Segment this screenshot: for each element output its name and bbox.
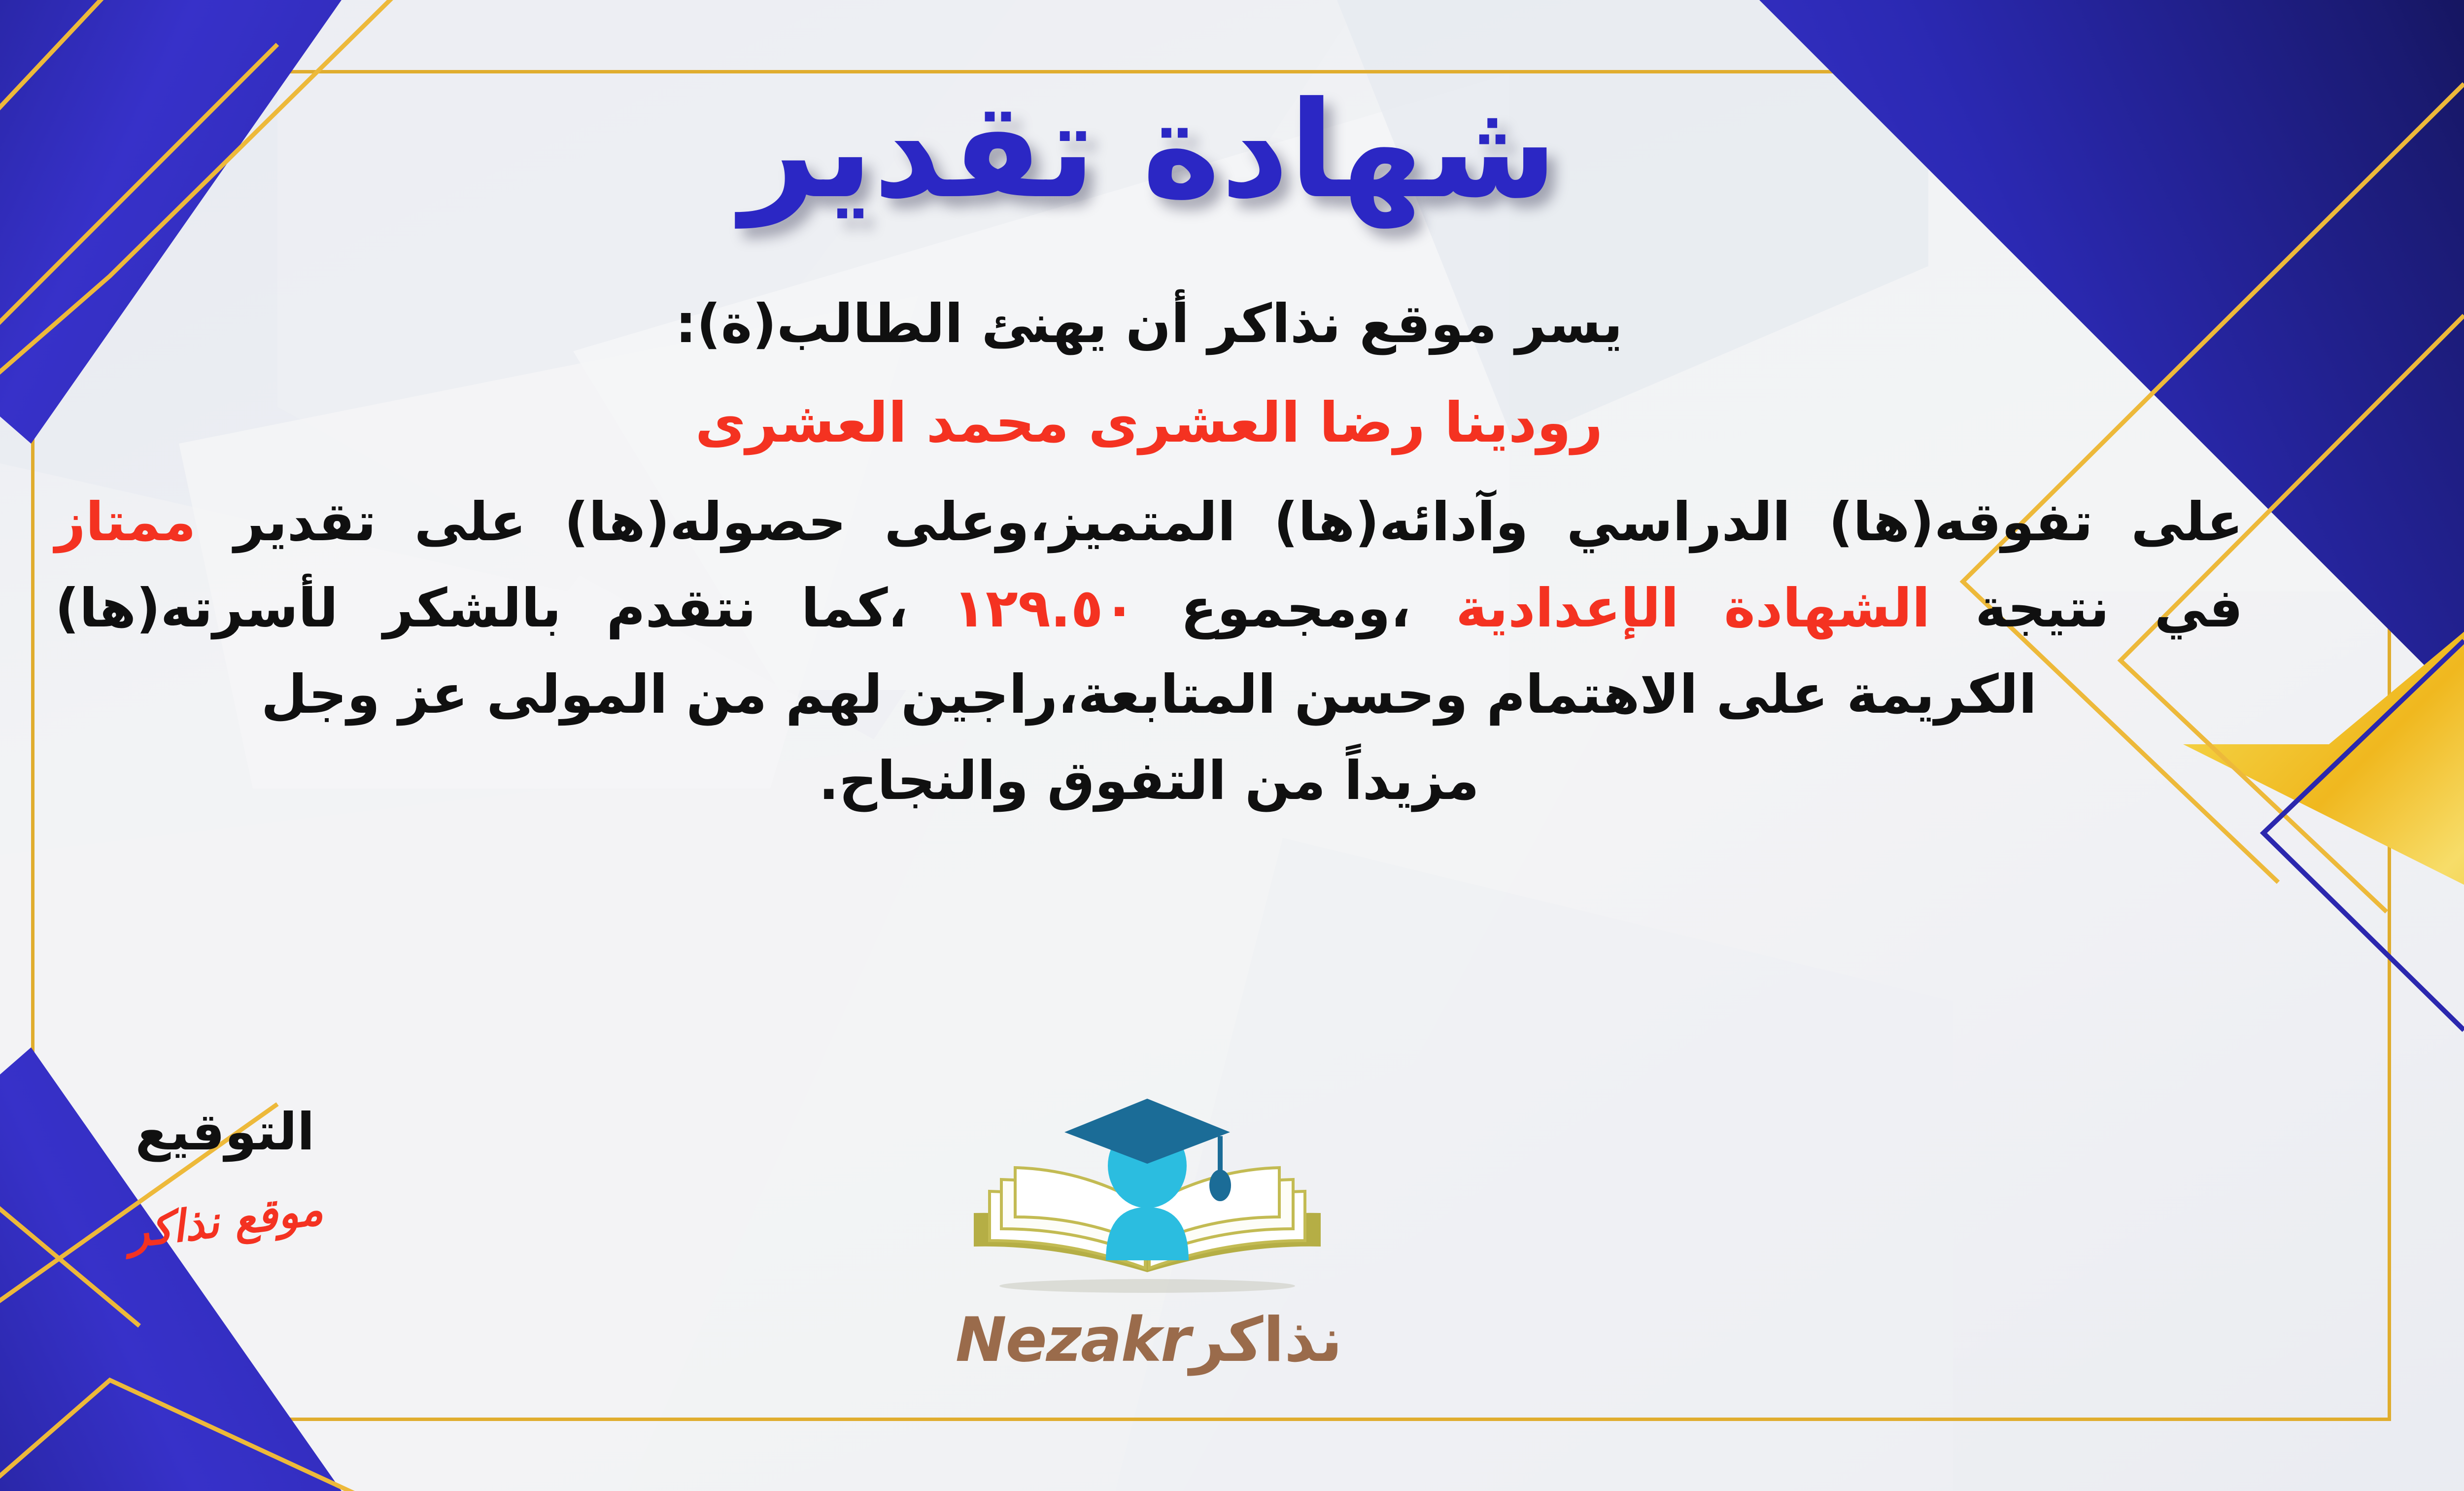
certificate-body: يسر موقع نذاكر أن يهنئ الطالب(ة): رودينا… bbox=[40, 281, 2258, 825]
signature-block: التوقيع موقع نذاكر bbox=[0, 1102, 616, 1246]
result-prefix: في نتيجة bbox=[1975, 578, 2243, 639]
brand-name-latin: Nezakr bbox=[956, 1305, 1190, 1376]
exam-name: الشهادة الإعدادية bbox=[1456, 578, 1930, 639]
graduate-book-icon bbox=[962, 1097, 1336, 1309]
total-prefix: ،ومجموع bbox=[1181, 578, 1411, 639]
closing-line: مزيداً من التفوق والنجاح. bbox=[40, 738, 2258, 825]
certificate-page: شهادة تقدير يسر موقع نذاكر أن يهنئ الطال… bbox=[0, 0, 2464, 1491]
result-line: في نتيجة الشهادة الإعدادية ،ومجموع ١٢٩.٥… bbox=[40, 566, 2258, 652]
student-name: رودينا رضا العشرى محمد العشرى bbox=[40, 391, 2258, 455]
family-thanks-line: الكريمة على الاهتمام وحسن المتابعة،راجين… bbox=[40, 652, 2258, 738]
thanks-prefix: ،كما نتقدم بالشكر لأسرته(ها) bbox=[55, 578, 908, 639]
achievement-text: على تفوقه(ها) الدراسي وآدائه(ها) المتميز… bbox=[234, 491, 2243, 553]
achievement-line: على تفوقه(ها) الدراسي وآدائه(ها) المتميز… bbox=[40, 480, 2258, 566]
signature-label: التوقيع bbox=[0, 1102, 616, 1162]
brand-name-arabic: نذاكر bbox=[1190, 1305, 1342, 1376]
signature-mark: موقع نذاكر bbox=[125, 1183, 325, 1258]
total-score: ١٢٩.٥٠ bbox=[953, 578, 1136, 639]
certificate-footer: التوقيع موقع نذاكر bbox=[0, 1102, 2464, 1407]
brand-wordmark: نذاكرNezakr bbox=[932, 1305, 1366, 1376]
greeting-line: يسر موقع نذاكر أن يهنئ الطالب(ة): bbox=[40, 281, 2258, 368]
page-title: شهادة تقدير bbox=[740, 74, 1557, 227]
brand-logo: نذاكرNezakr bbox=[932, 1097, 1366, 1376]
grade-value: ممتاز bbox=[55, 491, 196, 553]
